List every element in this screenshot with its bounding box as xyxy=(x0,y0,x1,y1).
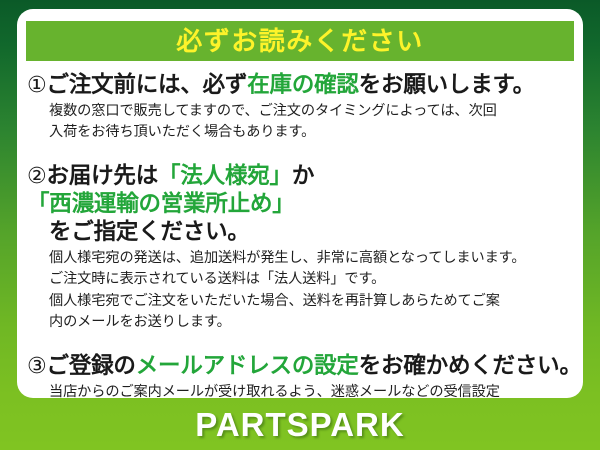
circled-number-2-icon: ② xyxy=(27,163,47,188)
circled-number-3-icon: ③ xyxy=(27,353,47,378)
circled-number-1-icon: ① xyxy=(27,72,47,97)
notice-item-2-heading-line2: をご指定ください。 xyxy=(49,218,575,246)
notice-poster: 必ずお読みください ①ご注文前には、必ず在庫の確認をお願いします。 複数の窓口で… xyxy=(0,0,600,450)
notice-item-2-heading-mid: か xyxy=(292,163,314,188)
notice-item-2-heading-highlight-2: 「西濃運輸の営業所止め」 xyxy=(27,191,295,216)
notice-item-1-heading-post: をお願いします。 xyxy=(359,72,535,97)
notice-item-2-heading-highlight-1: 「法人様宛」 xyxy=(158,163,292,188)
notice-item-2: ②お届け先は「法人様宛」か「西濃運輸の営業所止め」 をご指定ください。 個人様宅… xyxy=(17,162,583,334)
notice-item-1-heading: ①ご注文前には、必ず在庫の確認をお願いします。 xyxy=(27,71,575,99)
notice-item-3-heading-highlight: メールアドレスの設定 xyxy=(136,353,359,378)
partspark-logo: PARTSPARK xyxy=(195,408,404,441)
notice-item-2-heading-pre: お届け先は xyxy=(47,163,159,188)
notice-item-3: ③ご登録のメールアドレスの設定をお確かめください。 当店からのご案内メールが受け… xyxy=(17,352,583,398)
notice-item-1-body: 複数の窓口で販売してますので、ご注文のタイミングによっては、次回 入荷をお待ち頂… xyxy=(49,101,575,144)
banner-title: 必ずお読みください xyxy=(176,28,424,54)
notice-item-list: ①ご注文前には、必ず在庫の確認をお願いします。 複数の窓口で販売してますので、ご… xyxy=(17,71,583,398)
notice-item-2-body: 個人様宅宛の発送は、追加送料が発生し、非常に高額となってしまいます。 ご注文時に… xyxy=(49,248,575,334)
notice-item-3-heading-pre: ご登録の xyxy=(47,353,136,378)
notice-item-3-heading-post: をお確かめください。 xyxy=(359,353,582,378)
footer-logo-bar: PARTSPARK xyxy=(0,398,600,450)
notice-item-1-heading-highlight: 在庫の確認 xyxy=(247,72,359,97)
notice-item-2-heading: ②お届け先は「法人様宛」か「西濃運輸の営業所止め」 をご指定ください。 xyxy=(27,162,575,246)
notice-item-1-heading-pre: ご注文前には、必ず xyxy=(47,72,248,97)
notice-item-3-heading: ③ご登録のメールアドレスの設定をお確かめください。 xyxy=(27,352,575,380)
notice-item-3-body: 当店からのご案内メールが受け取れるよう、迷惑メールなどの受信設定 をあらかじめご… xyxy=(49,382,575,398)
notice-item-1: ①ご注文前には、必ず在庫の確認をお願いします。 複数の窓口で販売してますので、ご… xyxy=(17,71,583,144)
notice-card: 必ずお読みください ①ご注文前には、必ず在庫の確認をお願いします。 複数の窓口で… xyxy=(17,9,583,398)
header-banner: 必ずお読みください xyxy=(26,21,574,61)
